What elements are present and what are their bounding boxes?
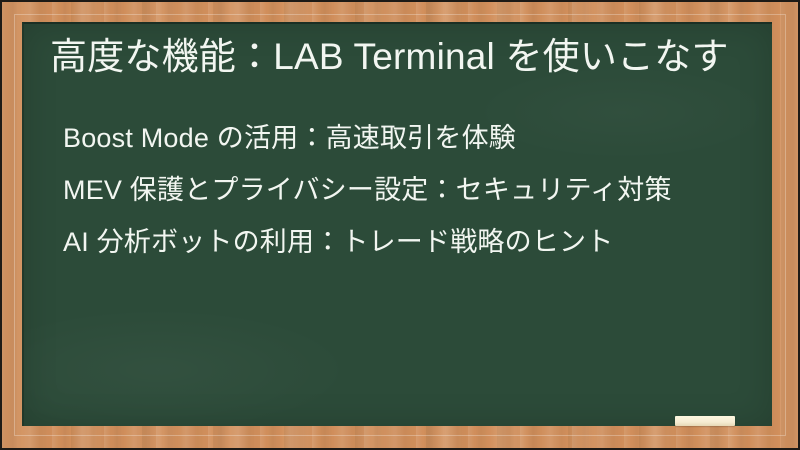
chalkboard-surface: 高度な機能：LAB Terminal を使いこなす Boost Mode の活用… — [22, 22, 772, 426]
slide-title: 高度な機能：LAB Terminal を使いこなす — [50, 32, 740, 82]
topic-list: Boost Mode の活用：高速取引を体験 MEV 保護とプライバシー設定：セ… — [50, 112, 746, 268]
chalkboard-content: 高度な機能：LAB Terminal を使いこなす Boost Mode の活用… — [24, 24, 772, 268]
chalk-stick-icon — [675, 416, 735, 426]
chalkboard-slide: 高度な機能：LAB Terminal を使いこなす Boost Mode の活用… — [0, 0, 800, 450]
topic-list-item-3: AI 分析ボットの利用：トレード戦略のヒント — [63, 216, 746, 268]
topic-list-item-2: MEV 保護とプライバシー設定：セキュリティ対策 — [63, 164, 746, 216]
topic-list-item-1: Boost Mode の活用：高速取引を体験 — [63, 112, 746, 164]
